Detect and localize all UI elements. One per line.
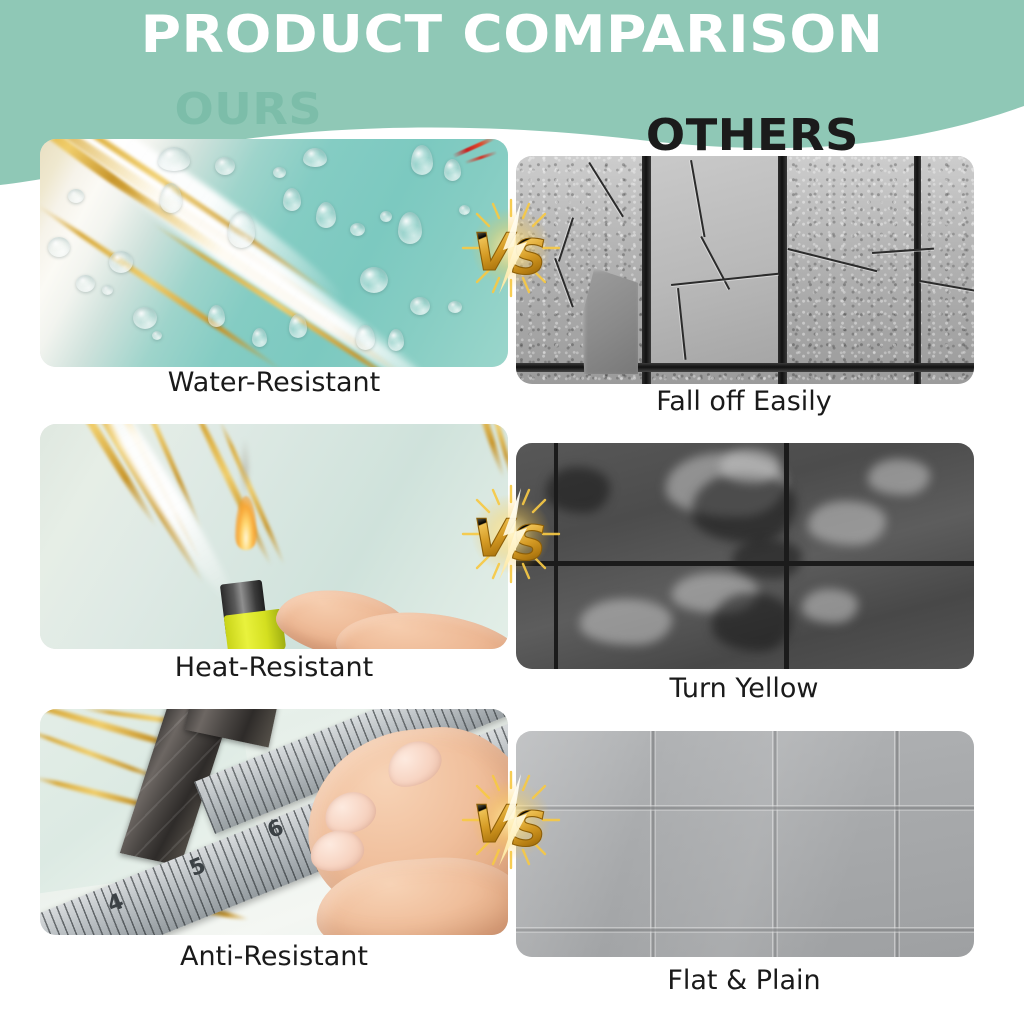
others-label-flat-plain: Flat & Plain <box>508 965 980 996</box>
vs-badge-row-2: V S <box>459 482 563 586</box>
others-image-turn-yellow <box>516 443 974 669</box>
column-title-others: OTHERS <box>646 110 859 161</box>
smoke-wisp <box>241 438 249 500</box>
tile-sheen <box>516 731 974 957</box>
ours-image-anti-resistant: 4 5 6 <box>40 709 508 935</box>
ours-label-heat-resistant: Heat-Resistant <box>39 652 509 683</box>
others-image-flat-plain <box>516 731 974 957</box>
ours-label-water-resistant: Water-Resistant <box>39 367 509 398</box>
others-label-turn-yellow: Turn Yellow <box>508 673 980 704</box>
column-title-ours: OURS <box>174 84 322 135</box>
ours-image-heat-resistant <box>40 424 508 649</box>
vs-badge-row-3: V S <box>459 768 563 872</box>
others-image-fall-off-easily <box>516 156 974 384</box>
vs-badge-row-1: V S <box>459 196 563 300</box>
ours-label-anti-resistant: Anti-Resistant <box>39 941 509 972</box>
page-title: PRODUCT COMPARISON <box>0 8 1024 63</box>
peeled-chip <box>582 268 638 374</box>
others-label-fall-off-easily: Fall off Easily <box>508 386 980 417</box>
ours-image-water-resistant <box>40 139 508 367</box>
